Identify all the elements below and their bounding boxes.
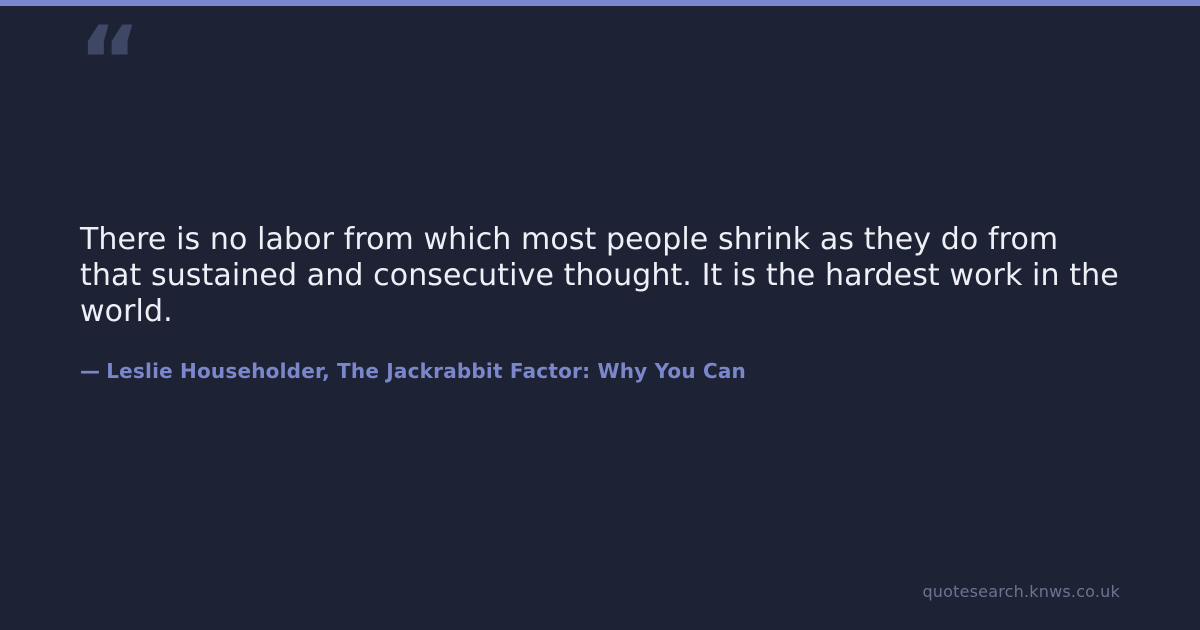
footer-site-url: quotesearch.knws.co.uk xyxy=(922,582,1120,602)
quote-text: There is no labor from which most people… xyxy=(80,222,1126,330)
quote-body: There is no labor from which most people… xyxy=(80,222,1126,330)
top-accent-bar xyxy=(0,0,1200,6)
open-quote-icon: “ xyxy=(78,14,139,110)
attribution-dash: — xyxy=(80,359,100,383)
quote-attribution: —Leslie Householder, The Jackrabbit Fact… xyxy=(80,357,746,385)
attribution-text: Leslie Householder, The Jackrabbit Facto… xyxy=(106,359,746,383)
quote-card: “ There is no labor from which most peop… xyxy=(0,0,1200,630)
